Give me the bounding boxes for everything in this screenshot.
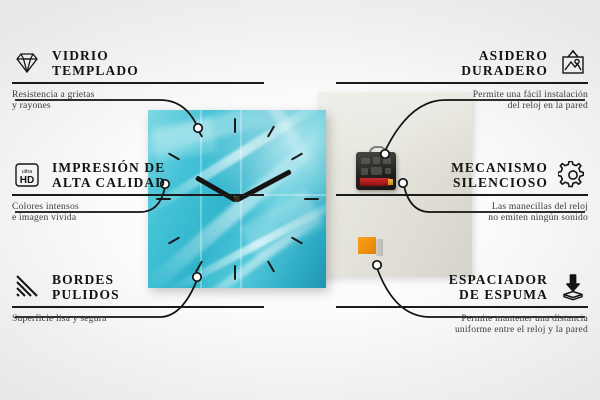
- divider: [336, 194, 588, 196]
- feature-vidrio-templado: VIDRIO TEMPLADO Resistencia a grietas y …: [12, 48, 264, 112]
- diamond-icon: [12, 48, 42, 78]
- feature-subtitle-line1: Las manecillas del reloj: [336, 201, 588, 213]
- feature-title-line1: MECANISMO: [451, 160, 548, 175]
- feature-asidero-duradero: ASIDERO DURADERO Permite una fácil insta…: [336, 48, 588, 112]
- feature-title-line1: IMPRESIÓN DE: [52, 160, 166, 175]
- feature-subtitle-line1: Colores intensos: [12, 201, 264, 213]
- foam-spacer: [358, 237, 376, 254]
- feature-subtitle-line1: Superficie lisa y segura: [12, 313, 264, 325]
- divider: [12, 82, 264, 84]
- feature-subtitle-line2: e imagen vívida: [12, 212, 264, 224]
- feature-title-line1: VIDRIO: [52, 48, 139, 63]
- svg-text:HD: HD: [20, 175, 34, 186]
- feature-subtitle-line2: no emiten ningún sonido: [336, 212, 588, 224]
- feature-title-line2: ALTA CALIDAD: [52, 175, 166, 190]
- feature-subtitle-line1: Permite mantener una distancia: [336, 313, 588, 325]
- feature-title-line2: PULIDOS: [52, 287, 120, 302]
- feature-impresion-alta-calidad: ultra HD IMPRESIÓN DE ALTA CALIDAD Color…: [12, 160, 264, 224]
- feature-subtitle-line2: y rayones: [12, 100, 264, 112]
- feature-title-line1: BORDES: [52, 272, 120, 287]
- feature-bordes-pulidos: BORDES PULIDOS Superficie lisa y segura: [12, 272, 264, 324]
- divider: [336, 82, 588, 84]
- feature-espaciador-de-espuma: ESPACIADOR DE ESPUMA Permite mantener un…: [336, 272, 588, 336]
- gear-icon: [558, 160, 588, 190]
- ultra-hd-icon: ultra HD: [12, 160, 42, 190]
- infographic-canvas: VIDRIO TEMPLADO Resistencia a grietas y …: [0, 0, 600, 400]
- feature-title-line2: SILENCIOSO: [451, 175, 548, 190]
- feature-subtitle-line1: Resistencia a grietas: [12, 89, 264, 101]
- feature-mecanismo-silencioso: MECANISMO SILENCIOSO Las manecillas del …: [336, 160, 588, 224]
- hanging-frame-icon: [558, 48, 588, 78]
- feature-subtitle-line1: Permite una fácil instalación: [336, 89, 588, 101]
- feature-title-line1: ESPACIADOR: [449, 272, 548, 287]
- feature-subtitle-line2: uniforme entre el reloj y la pared: [336, 324, 588, 336]
- diagonal-lines-icon: [12, 272, 42, 302]
- mechanism-hook-icon: [369, 146, 387, 157]
- feature-title-line2: DURADERO: [461, 63, 548, 78]
- feature-subtitle-line2: del reloj en la pared: [336, 100, 588, 112]
- feature-title-line1: ASIDERO: [461, 48, 548, 63]
- divider: [336, 306, 588, 308]
- divider: [12, 194, 264, 196]
- arrow-down-pad-icon: [558, 272, 588, 302]
- feature-title-line2: DE ESPUMA: [449, 287, 548, 302]
- feature-title-line2: TEMPLADO: [52, 63, 139, 78]
- divider: [12, 306, 264, 308]
